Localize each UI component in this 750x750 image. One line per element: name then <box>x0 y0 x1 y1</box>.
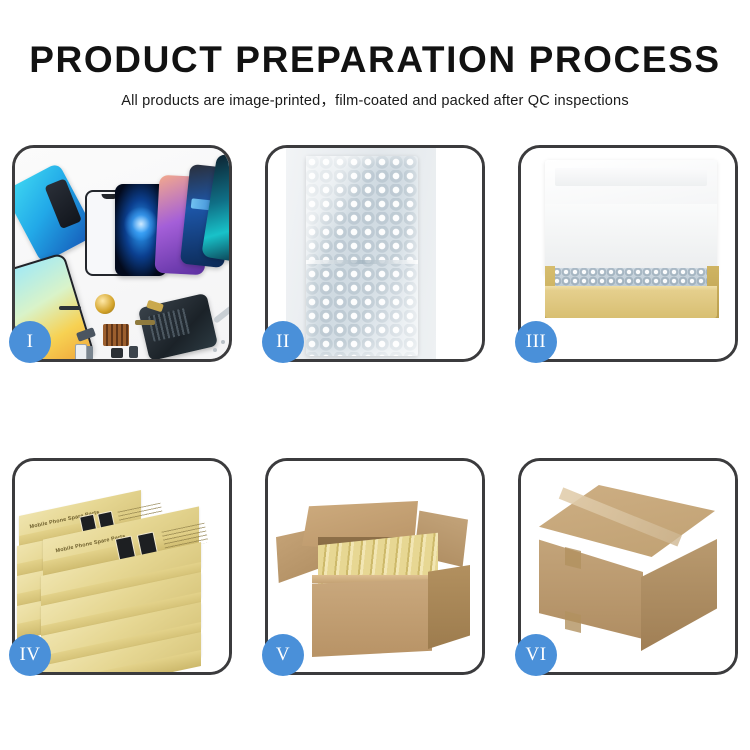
flex-cable-part <box>135 320 155 325</box>
steps-grid: I II III <box>12 145 738 681</box>
retail-box <box>41 649 201 672</box>
retail-box-stack: Mobile Phone Spare Parts <box>15 461 229 672</box>
step-badge-1: I <box>9 321 51 363</box>
step-badge-3: III <box>515 321 557 363</box>
product-preparation-infographic: PRODUCT PREPARATION PROCESS All products… <box>0 0 750 750</box>
page-title: PRODUCT PREPARATION PROCESS <box>0 40 750 80</box>
step-image-6 <box>521 461 735 672</box>
tweezers-tool <box>213 298 229 324</box>
step-badge-6: VI <box>515 634 557 676</box>
chip-array-part <box>103 324 129 346</box>
step-image-3 <box>521 148 735 359</box>
step-panel-2: II <box>265 145 485 362</box>
white-foam-panel <box>545 204 717 270</box>
step-image-4: Mobile Phone Spare Parts <box>15 461 229 672</box>
plastic-sheen <box>306 156 418 356</box>
sim-tray-part <box>75 344 87 359</box>
step-badge-4: IV <box>9 634 51 676</box>
pouch-seam <box>306 260 418 264</box>
carton-seam-tab <box>565 547 581 569</box>
step-panel-3: III <box>518 145 738 362</box>
small-module-part <box>129 346 138 358</box>
screw-part <box>213 348 217 352</box>
step-image-5 <box>268 461 482 672</box>
carton-side-wall <box>428 565 470 649</box>
header: PRODUCT PREPARATION PROCESS All products… <box>0 0 750 110</box>
camera-module-part <box>111 348 123 358</box>
screw-part <box>221 340 225 344</box>
step-panel-4: Mobile Phone Spare Parts <box>12 458 232 675</box>
step-badge-2: II <box>262 321 304 363</box>
step-badge-5: V <box>262 634 304 676</box>
step-panel-5: V <box>265 458 485 675</box>
step-image-1 <box>15 148 229 359</box>
carton-front-wall <box>312 579 432 657</box>
flex-cable-part <box>59 306 81 310</box>
step-panel-6: VI <box>518 458 738 675</box>
screw-part <box>225 351 229 355</box>
kraft-box-front <box>545 290 717 318</box>
page-subtitle: All products are image-printed，film-coat… <box>0 92 750 110</box>
speaker-coil-part <box>95 294 115 314</box>
carton-seam-tab <box>565 611 581 633</box>
step-image-2 <box>268 148 482 359</box>
step-panel-1: I <box>12 145 232 362</box>
